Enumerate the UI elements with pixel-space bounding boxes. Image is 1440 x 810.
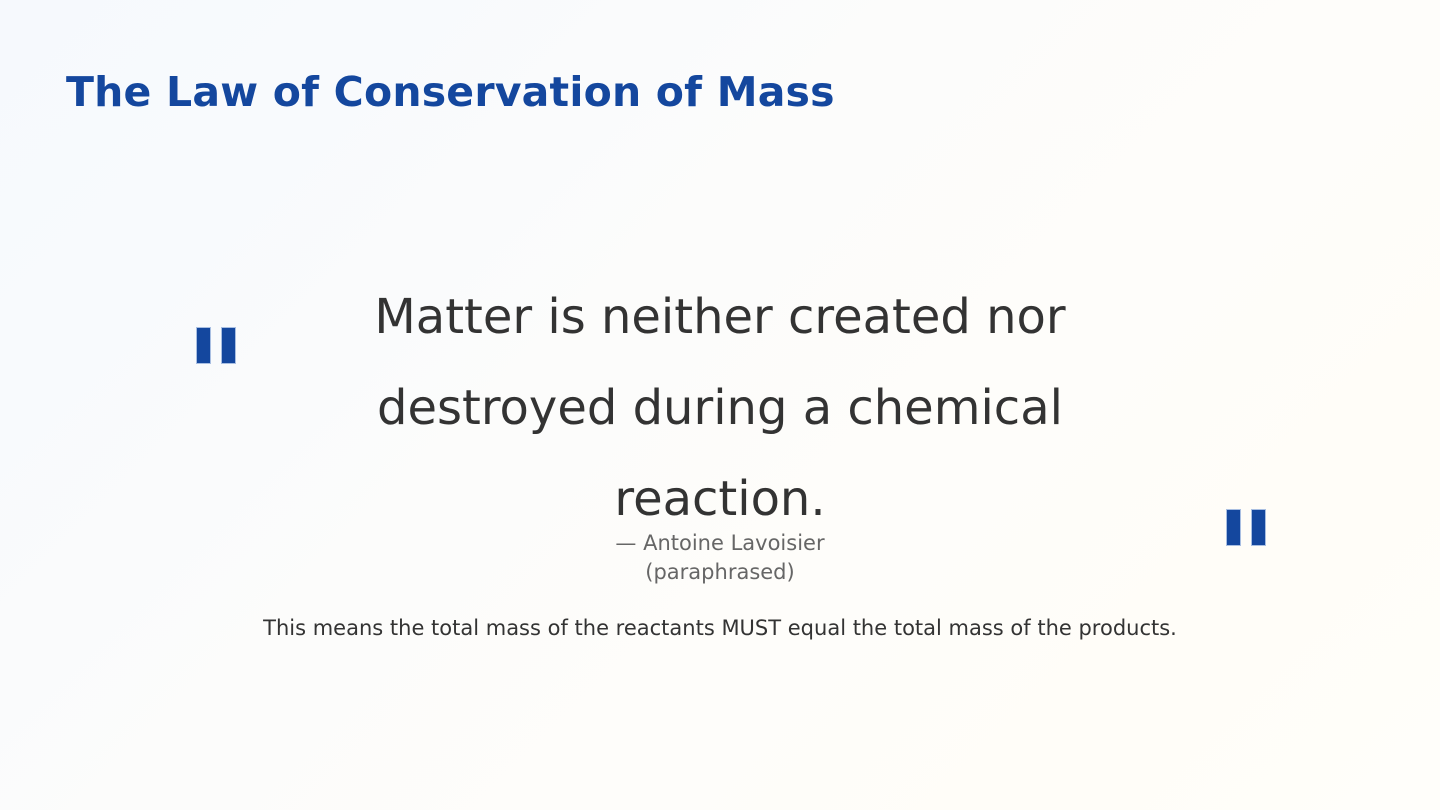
quote-attribution-name: — Antoine Lavoisier xyxy=(290,529,1150,558)
quote-block: Matter is neither created nor destroyed … xyxy=(0,272,1440,572)
slide-canvas: The Law of Conservation of Mass Matter i… xyxy=(0,0,1440,810)
quote-attribution: — Antoine Lavoisier (paraphrased) xyxy=(290,529,1150,588)
quote-text: Matter is neither created nor destroyed … xyxy=(290,272,1150,546)
quote-close-bar-right xyxy=(1251,509,1266,546)
quote-open-bar-right xyxy=(221,327,236,364)
explanation-text: This means the total mass of the reactan… xyxy=(190,604,1250,653)
quote-open-bar-left xyxy=(196,327,211,364)
quote-open-icon xyxy=(196,323,236,364)
quote-close-bar-left xyxy=(1226,509,1241,546)
quote-close-icon xyxy=(1226,505,1266,546)
page-title: The Law of Conservation of Mass xyxy=(66,68,835,117)
quote-attribution-note: (paraphrased) xyxy=(290,558,1150,587)
